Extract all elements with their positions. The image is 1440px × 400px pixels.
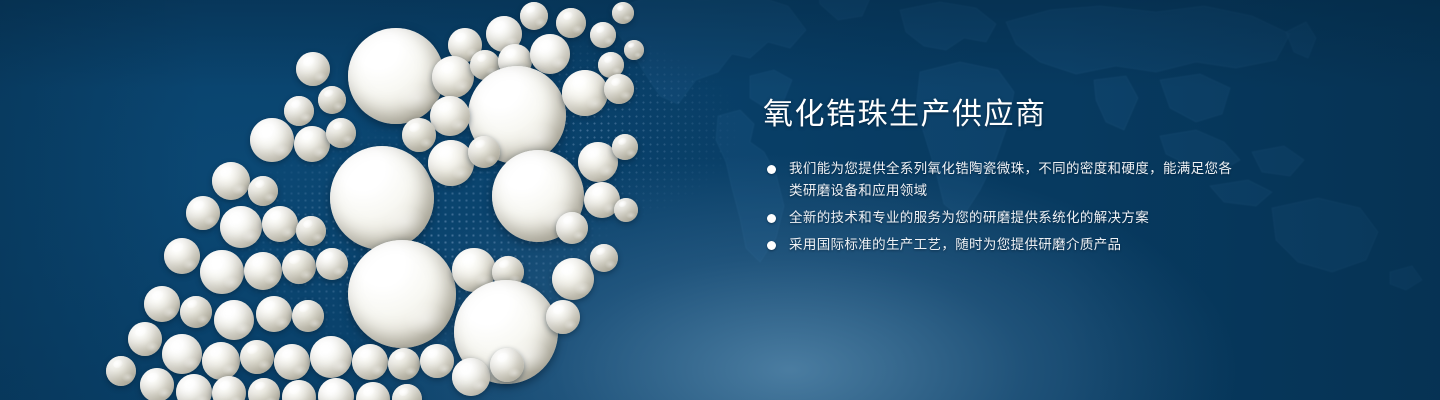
bullet-text: 我们能为您提供全系列氧化锆陶瓷微珠，不同的密度和硬度，能满足您各类研磨设备和应用…	[789, 158, 1233, 202]
bullet-text: 采用国际标准的生产工艺，随时为您提供研磨介质产品	[789, 234, 1233, 256]
banner-text-block: 氧化锆珠生产供应商 我们能为您提供全系列氧化锆陶瓷微珠，不同的密度和硬度，能满足…	[763, 100, 1233, 261]
banner-headline: 氧化锆珠生产供应商	[763, 100, 1233, 130]
banner-feature-list: 我们能为您提供全系列氧化锆陶瓷微珠，不同的密度和硬度，能满足您各类研磨设备和应用…	[763, 158, 1233, 256]
bullet-text: 全新的技术和专业的服务为您的研磨提供系统化的解决方案	[789, 207, 1233, 229]
list-item: 我们能为您提供全系列氧化锆陶瓷微珠，不同的密度和硬度，能满足您各类研磨设备和应用…	[763, 158, 1233, 202]
list-item: 采用国际标准的生产工艺，随时为您提供研磨介质产品	[763, 234, 1233, 256]
list-item: 全新的技术和专业的服务为您的研磨提供系统化的解决方案	[763, 207, 1233, 229]
bullet-dot-icon	[767, 241, 776, 250]
zirconia-bead-cluster	[0, 0, 740, 400]
bullet-dot-icon	[767, 214, 776, 223]
bullet-dot-icon	[767, 165, 776, 174]
hero-banner: 氧化锆珠生产供应商 我们能为您提供全系列氧化锆陶瓷微珠，不同的密度和硬度，能满足…	[0, 0, 1440, 400]
